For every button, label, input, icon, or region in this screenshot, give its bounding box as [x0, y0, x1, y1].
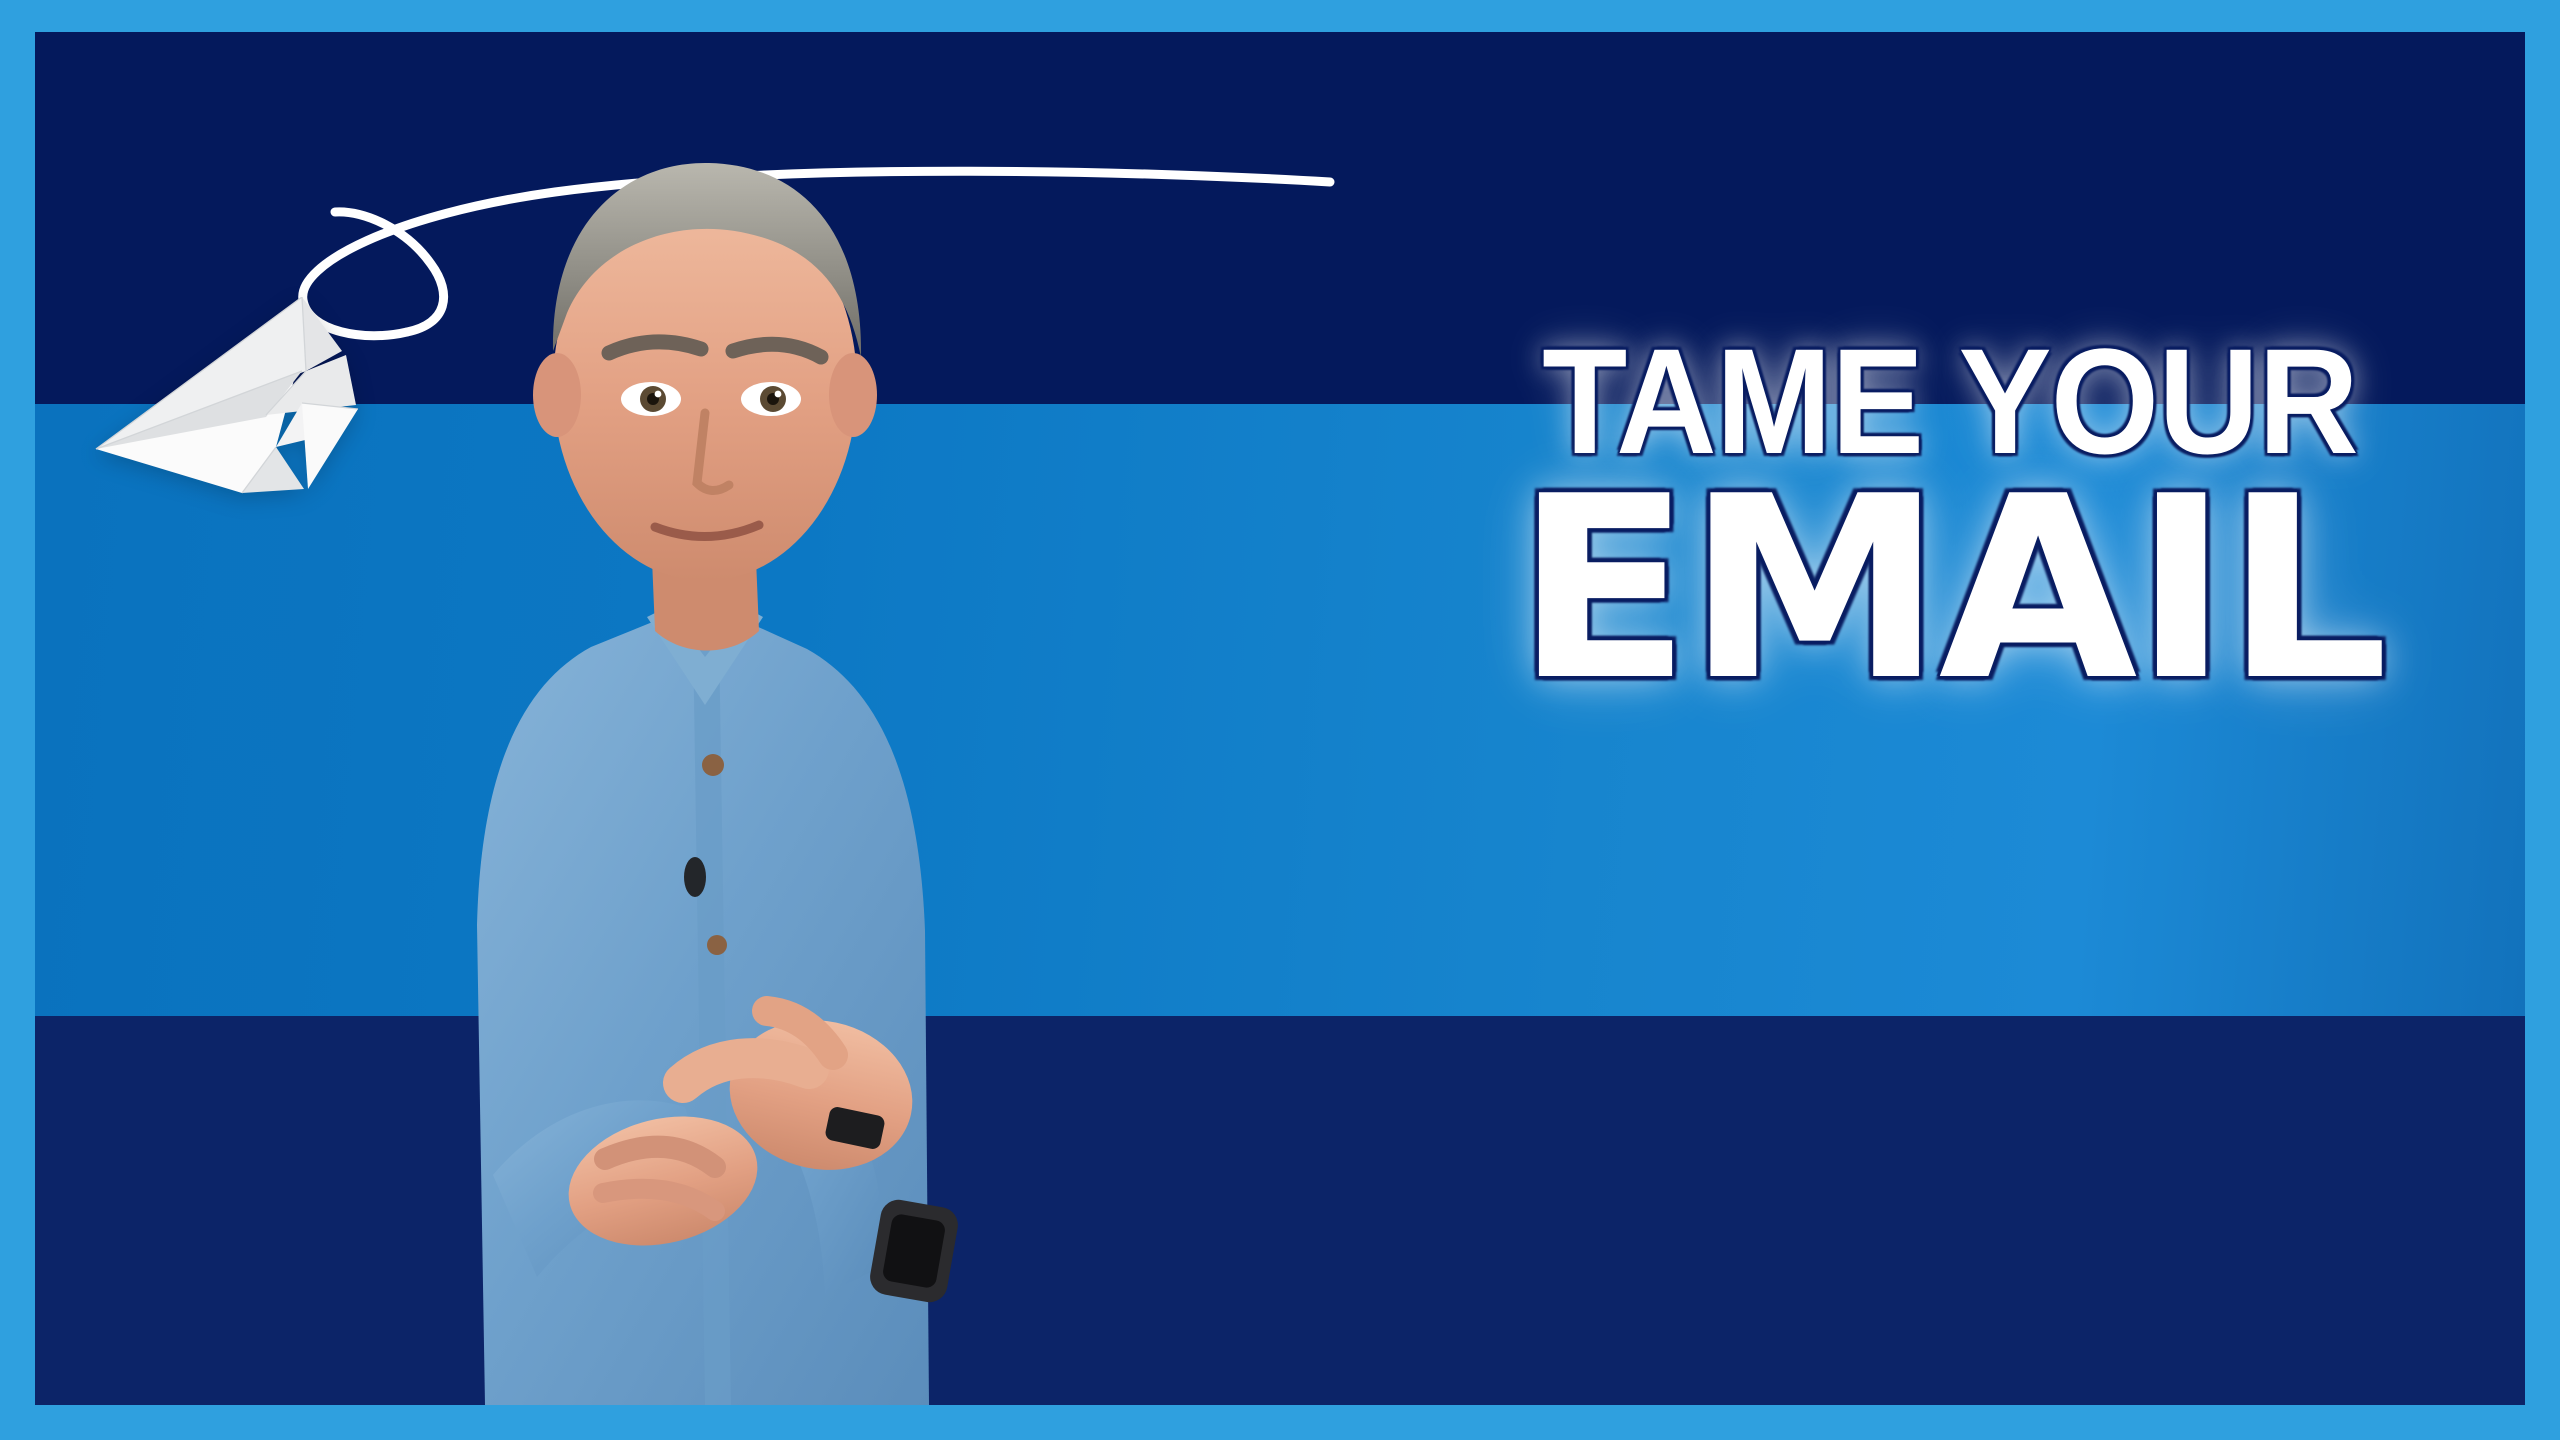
thumbnail-canvas: TAME YOUR EMAIL — [35, 32, 2525, 1405]
headline: TAME YOUR EMAIL — [1445, 332, 2455, 706]
paper-airplane-icon — [90, 297, 370, 512]
headline-line-2: EMAIL — [1435, 474, 2465, 706]
video-thumbnail: TAME YOUR EMAIL — [0, 0, 2560, 1440]
bottom-navy-band — [35, 1016, 2525, 1405]
